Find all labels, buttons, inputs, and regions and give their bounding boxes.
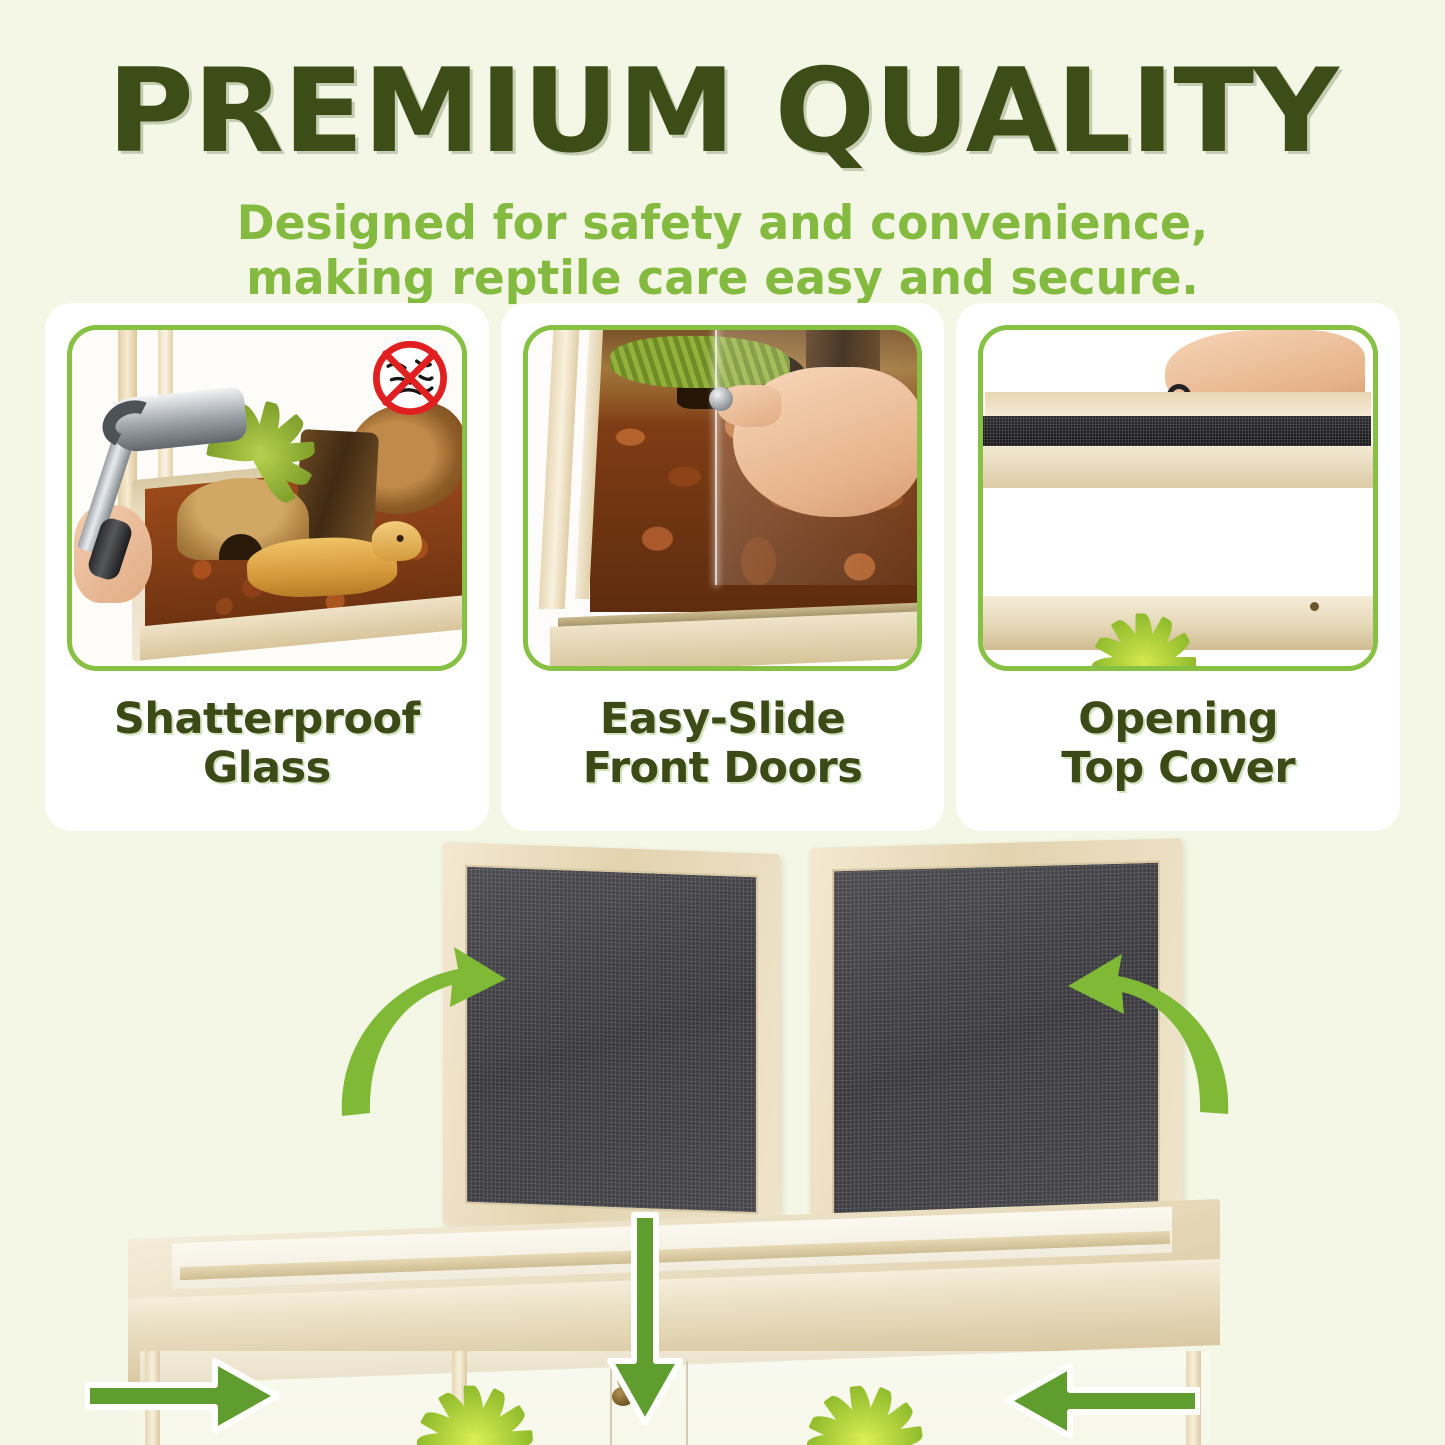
header: PREMIUM QUALITY Designed for safety and … xyxy=(0,0,1445,307)
straight-arrow-right xyxy=(1000,1356,1200,1445)
card-label-line-2: Front Doors xyxy=(501,744,945,793)
card-label-line-1: Easy-Slide xyxy=(501,695,945,744)
fake-plant xyxy=(790,1379,940,1445)
feature-card-easy-slide-front-doors[interactable]: Easy-Slide Front Doors xyxy=(501,303,945,831)
no-shatter-icon xyxy=(368,336,452,420)
fake-plant xyxy=(1069,618,1219,666)
card-label-line-1: Opening xyxy=(956,695,1400,744)
card-photo-frame xyxy=(67,325,467,671)
infographic-page: PREMIUM QUALITY Designed for safety and … xyxy=(0,0,1445,1445)
card-label-line-2: Top Cover xyxy=(956,744,1400,793)
card-label: Opening Top Cover xyxy=(956,695,1400,793)
straight-arrow-center xyxy=(600,1211,690,1431)
straight-arrow-left xyxy=(85,1351,285,1441)
feature-card-shatterproof-glass[interactable]: Shatterproof Glass xyxy=(45,303,489,831)
door-knob xyxy=(709,387,733,411)
subtitle-line-2: making reptile care easy and secure. xyxy=(22,251,1424,306)
page-subtitle: Designed for safety and convenience, mak… xyxy=(22,196,1424,307)
card-label: Easy-Slide Front Doors xyxy=(501,695,945,793)
curved-arrow-right xyxy=(1040,936,1240,1126)
subtitle-line-1: Designed for safety and convenience, xyxy=(22,196,1424,251)
card-photo-frame xyxy=(978,325,1378,671)
fake-plant xyxy=(400,1379,550,1445)
mesh-cover xyxy=(983,416,1371,446)
opening-top-cover-photo xyxy=(983,330,1373,666)
card-label: Shatterproof Glass xyxy=(45,695,489,793)
hammer-icon xyxy=(100,387,260,567)
feature-card-row: Shatterproof Glass xyxy=(45,303,1400,831)
easy-slide-doors-photo xyxy=(528,330,918,666)
shatterproof-glass-photo xyxy=(72,330,462,666)
card-label-line-2: Glass xyxy=(45,744,489,793)
feature-card-opening-top-cover[interactable]: Opening Top Cover xyxy=(956,303,1400,831)
card-label-line-1: Shatterproof xyxy=(45,695,489,744)
page-title: PREMIUM QUALITY xyxy=(0,54,1445,170)
product-hero-image xyxy=(0,831,1445,1445)
curved-arrow-left xyxy=(330,921,540,1131)
card-photo-frame xyxy=(523,325,923,671)
